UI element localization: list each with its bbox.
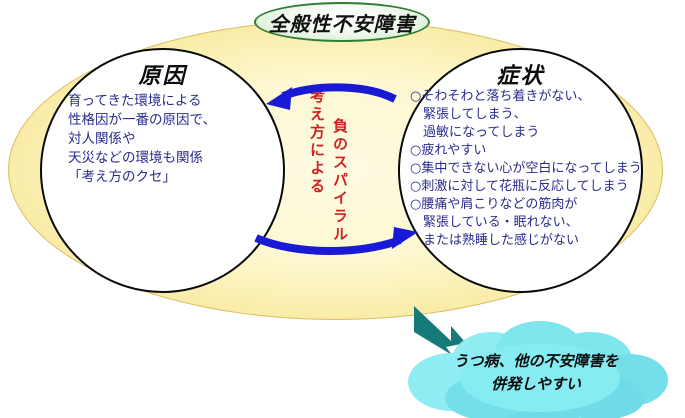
causes-line: 「考え方のクセ」 <box>68 168 216 187</box>
symptom-line: ○腰痛や肩こりなどの筋肉が <box>410 196 642 214</box>
symptom-line: 緊張してしまう、 <box>410 106 642 124</box>
symptoms-circle: 症状 ○そわそわと落ち着きがない、 緊張してしまう、 過敏になってしまう ○疲れ… <box>398 48 643 293</box>
causes-body-text: 育ってきた環境による 性格因が一番の原因で、 対人関係や 天災などの環境も関係 … <box>68 92 216 187</box>
outcome-line: うつ病、他の不安障害を <box>400 350 672 373</box>
symptom-line: または熟睡した感じがない <box>410 232 642 250</box>
symptoms-body-text: ○そわそわと落ち着きがない、 緊張してしまう、 過敏になってしまう ○疲れやすい… <box>410 88 642 250</box>
symptoms-heading: 症状 <box>400 58 641 90</box>
causes-line: 天災などの環境も関係 <box>68 149 216 168</box>
title-ellipse: 全般性不安障害 <box>254 2 430 42</box>
diagram-canvas: 原因 育ってきた環境による 性格因が一番の原因で、 対人関係や 天災などの環境も… <box>0 0 685 418</box>
symptom-line: 緊張している・眠れない、 <box>410 214 642 232</box>
symptom-line: ○刺激に対して花瓶に反応してしまう <box>410 178 642 196</box>
outcome-line: 併発しやすい <box>400 373 672 396</box>
outcome-cloud: うつ病、他の不安障害を 併発しやすい <box>400 330 672 416</box>
causes-heading: 原因 <box>42 58 283 90</box>
outcome-cloud-text: うつ病、他の不安障害を 併発しやすい <box>400 350 672 396</box>
symptom-line: ○集中できない心が空白になってしまう <box>410 160 642 178</box>
symptom-line: ○そわそわと落ち着きがない、 <box>410 88 642 106</box>
symptom-line: ○疲れやすい <box>410 142 642 160</box>
causes-line: 性格因が一番の原因で、 <box>68 111 216 130</box>
spiral-label-negative: 負のスパイラル <box>330 118 351 244</box>
causes-line: 育ってきた環境による <box>68 92 216 111</box>
page-title: 全般性不安障害 <box>269 8 416 37</box>
causes-line: 対人関係や <box>68 130 216 149</box>
spiral-label-thinking: 考え方による <box>307 88 328 196</box>
symptom-line: 過敏になってしまう <box>410 124 642 142</box>
causes-circle: 原因 育ってきた環境による 性格因が一番の原因で、 対人関係や 天災などの環境も… <box>40 48 285 293</box>
